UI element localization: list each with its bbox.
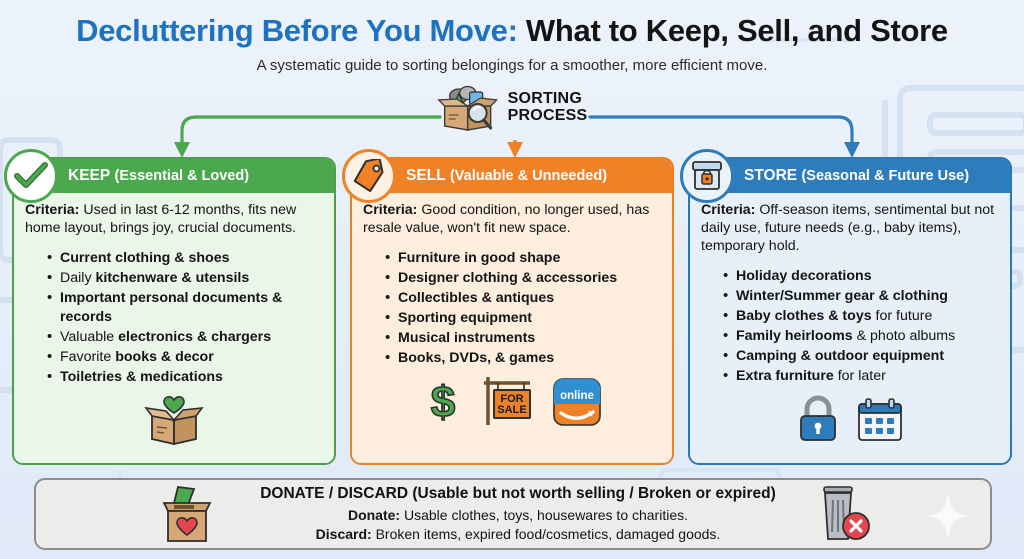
list-item: Holiday decorations (723, 267, 999, 286)
list-item: Current clothing & shoes (47, 249, 323, 268)
for-sale-sign-icon: FOR SALE (480, 375, 536, 427)
store-criteria: Criteria: Off-season items, sentimental … (701, 202, 999, 256)
page-title-rest: What to Keep, Sell, and Store (518, 13, 948, 48)
list-item: Daily kitchenware & utensils (47, 269, 323, 288)
svg-text:$: $ (431, 378, 455, 427)
keep-item-list: Current clothing & shoes Daily kitchenwa… (47, 249, 323, 387)
donate-text: Usable clothes, toys, housewares to char… (400, 507, 688, 523)
price-tag-icon (352, 159, 386, 193)
list-item: Baby clothes & toys for future (723, 307, 999, 326)
sparkle-icon (928, 492, 968, 540)
donate-label: Donate: (348, 507, 400, 523)
sell-badge (342, 149, 396, 203)
list-item: Important personal documents & records (47, 289, 323, 327)
list-item: Extra furniture for later (723, 367, 999, 386)
store-item-list: Holiday decorations Winter/Summer gear &… (723, 267, 999, 386)
page-header: Decluttering Before You Move: What to Ke… (0, 0, 1024, 74)
locked-storage-box-icon (690, 160, 724, 192)
category-column-sell[interactable]: SELL (Valuable & Unneeded) Criteria: Goo… (350, 157, 674, 465)
donate-discard-text: DONATE / DISCARD (Usable but not worth s… (260, 485, 776, 542)
category-column-keep[interactable]: KEEP (Essential & Loved) Criteria: Used … (12, 157, 336, 465)
list-item: Collectibles & antiques (385, 289, 661, 308)
sell-body: Criteria: Good condition, no longer used… (352, 193, 672, 463)
sorting-process-badge: SORTING PROCESS (437, 82, 588, 134)
for-sale-line2: SALE (497, 404, 526, 416)
calendar-icon (856, 397, 904, 443)
keep-criteria-label: Criteria: (25, 202, 79, 218)
donate-discard-bar[interactable]: DONATE / DISCARD (Usable but not worth s… (34, 478, 992, 550)
donate-line: Donate: Usable clothes, toys, housewares… (260, 506, 776, 524)
keep-icon-row (25, 388, 323, 457)
list-item: Books, DVDs, & games (385, 349, 661, 368)
trash-can-x-icon (812, 483, 876, 545)
list-item: Favorite books & decor (47, 348, 323, 367)
keep-badge (4, 149, 58, 203)
donate-discard-title: DONATE / DISCARD (Usable but not worth s… (260, 485, 776, 503)
sorting-process-label-line2: PROCESS (508, 108, 588, 125)
sell-criteria-label: Criteria: (363, 202, 417, 218)
list-item: Sporting equipment (385, 309, 661, 328)
sell-icon-row: $ FOR SALE (363, 369, 661, 436)
store-criteria-label: Criteria: (701, 202, 755, 218)
page-title-highlight: Decluttering Before You Move: (76, 13, 517, 48)
list-item: Designer clothing & accessories (385, 269, 661, 288)
check-mark-icon (14, 161, 48, 191)
discard-label: Discard: (316, 526, 372, 542)
list-item: Musical instruments (385, 329, 661, 348)
list-item: Family heirlooms & photo albums (723, 327, 999, 346)
discard-line: Discard: Broken items, expired food/cosm… (260, 525, 776, 543)
online-marketplace-icon: online (552, 377, 602, 427)
dollar-sign-icon: $ (422, 377, 464, 427)
sorting-process-row: SORTING PROCESS (0, 82, 1024, 136)
page-subtitle: A systematic guide to sorting belongings… (0, 57, 1024, 74)
list-item: Camping & outdoor equipment (723, 347, 999, 366)
online-label: online (560, 390, 594, 402)
list-item: Furniture in good shape (385, 249, 661, 268)
list-item: Valuable electronics & chargers (47, 328, 323, 347)
page-title: Decluttering Before You Move: What to Ke… (0, 14, 1024, 48)
store-body: Criteria: Off-season items, sentimental … (690, 193, 1010, 463)
category-column-store[interactable]: STORE (Seasonal & Future Use) Criteria: … (688, 157, 1012, 465)
discard-text: Broken items, expired food/cosmetics, da… (372, 526, 721, 542)
store-badge (680, 149, 734, 203)
store-icon-row (701, 387, 999, 452)
category-columns: KEEP (Essential & Loved) Criteria: Used … (12, 157, 1012, 465)
sell-item-list: Furniture in good shape Designer clothin… (385, 249, 661, 368)
padlock-icon (796, 393, 840, 443)
list-item: Winter/Summer gear & clothing (723, 287, 999, 306)
sorting-box-magnifier-icon (437, 82, 499, 134)
sorting-process-label-line1: SORTING (508, 91, 588, 108)
keep-criteria: Criteria: Used in last 6-12 months, fits… (25, 202, 323, 238)
sell-criteria: Criteria: Good condition, no longer used… (363, 202, 661, 238)
list-item: Toiletries & medications (47, 368, 323, 387)
box-with-heart-icon (142, 394, 206, 448)
donation-box-heart-icon (150, 483, 224, 545)
keep-body: Criteria: Used in last 6-12 months, fits… (14, 193, 334, 463)
